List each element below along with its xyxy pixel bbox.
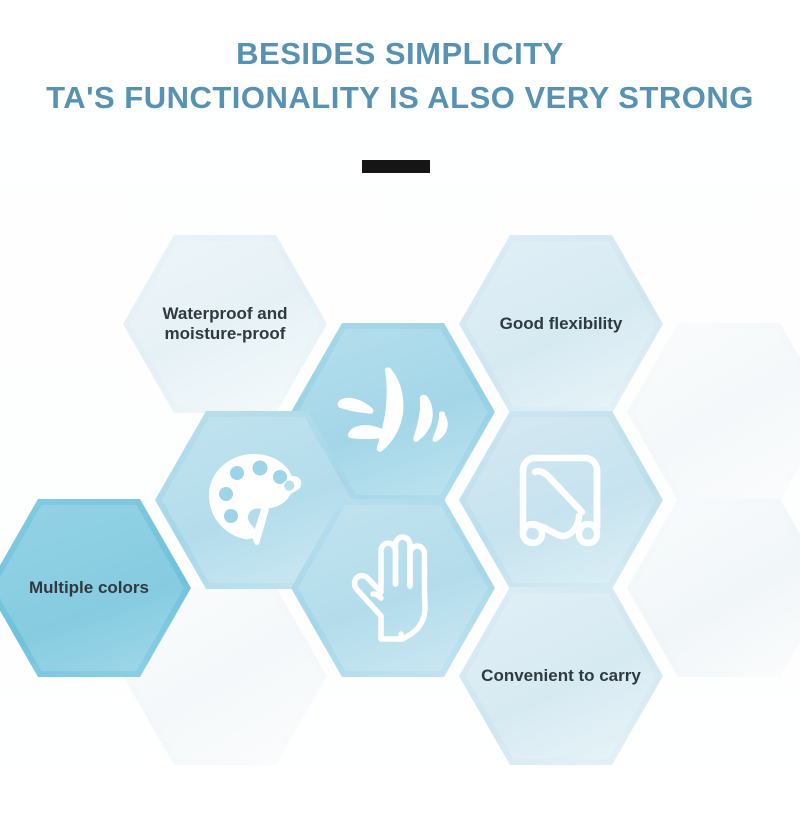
- hand-icon: [347, 534, 439, 642]
- splash-icon: [334, 363, 452, 461]
- hex-cell-scroll[interactable]: [459, 411, 663, 589]
- hex-label-carry: Convenient to carry: [475, 666, 647, 686]
- hex-cell-flexibility[interactable]: Good flexibility: [459, 235, 663, 413]
- palette-icon: [205, 451, 309, 549]
- hex-cell-ghost-top: [627, 323, 800, 501]
- hand-icon-svg: [347, 534, 439, 642]
- palette-icon-svg: [205, 451, 309, 549]
- hex-cell-waterproof[interactable]: Waterproof and moisture-proof: [123, 235, 327, 413]
- promo-graphic: BESIDES SIMPLICITY TA'S FUNCTIONALITY IS…: [0, 0, 800, 817]
- scroll-icon: [509, 448, 613, 552]
- honeycomb-grid: Waterproof and moisture-proof Good flexi…: [0, 0, 800, 817]
- hex-label-flexibility: Good flexibility: [494, 314, 629, 334]
- splash-icon-svg: [334, 363, 452, 461]
- hex-label-colors: Multiple colors: [23, 578, 155, 598]
- hex-cell-carry[interactable]: Convenient to carry: [459, 587, 663, 765]
- hex-label-waterproof: Waterproof and moisture-proof: [157, 304, 294, 344]
- scroll-icon-svg: [509, 448, 613, 552]
- hex-cell-ghost-right: [627, 499, 800, 677]
